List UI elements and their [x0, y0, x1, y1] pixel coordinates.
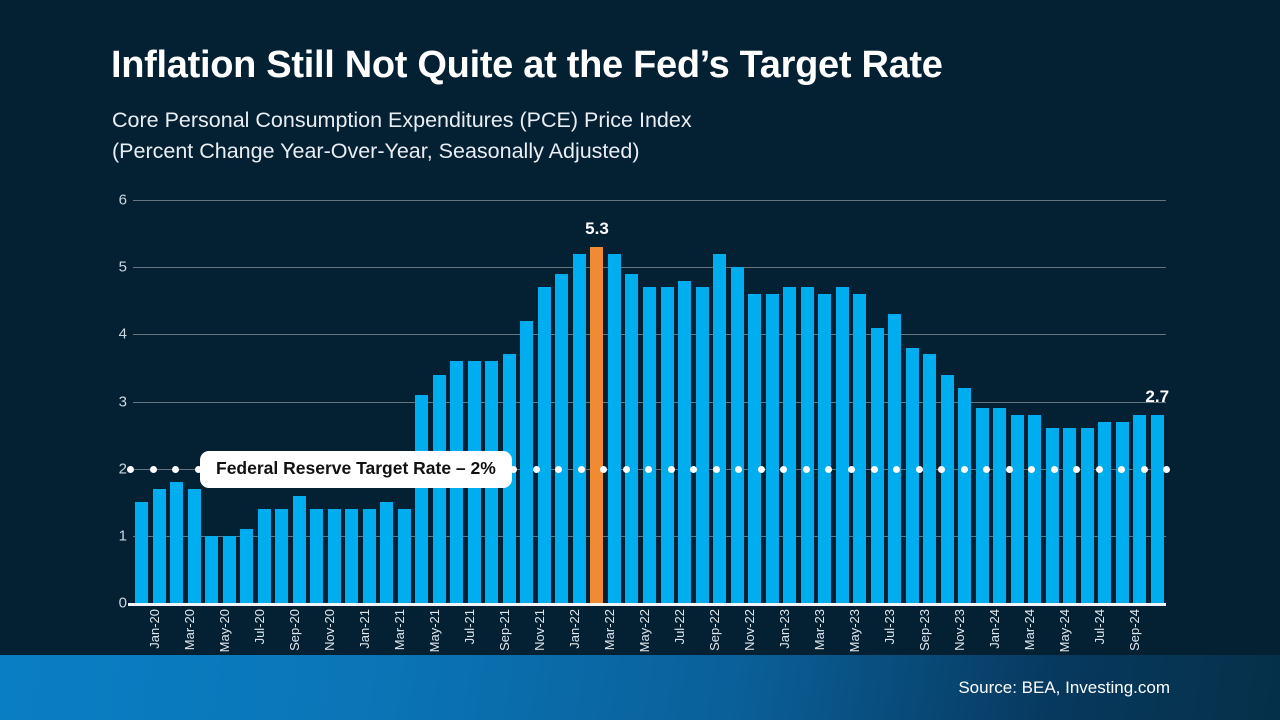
bar[interactable]: [625, 274, 638, 603]
x-axis-tick-label: May-23: [847, 609, 862, 652]
bar[interactable]: [520, 321, 533, 603]
x-axis-tick-label: May-21: [427, 609, 442, 652]
bar[interactable]: [363, 509, 376, 603]
x-axis-tick-label: May-22: [637, 609, 652, 652]
bar[interactable]: [731, 267, 744, 603]
x-axis-tick-label: Mar-21: [392, 609, 407, 650]
bar[interactable]: [643, 287, 656, 603]
bar[interactable]: [1081, 428, 1094, 603]
bar[interactable]: [345, 509, 358, 603]
bar[interactable]: [205, 536, 218, 603]
bar[interactable]: [135, 502, 148, 603]
y-axis-tick-label: 6: [87, 192, 127, 209]
x-axis-tick-label: Jul-20: [252, 609, 267, 644]
x-axis-tick-label: Sep-23: [917, 609, 932, 651]
bar[interactable]: [678, 281, 691, 603]
x-axis-tick-label: Sep-22: [707, 609, 722, 651]
bar[interactable]: [240, 529, 253, 603]
bar[interactable]: [573, 254, 586, 603]
y-axis-tick-label: 4: [87, 326, 127, 343]
bar[interactable]: [888, 314, 901, 603]
bar[interactable]: [923, 354, 936, 603]
bar[interactable]: [993, 408, 1006, 603]
page-title: Inflation Still Not Quite at the Fed’s T…: [111, 44, 943, 87]
bar[interactable]: [906, 348, 919, 603]
bar[interactable]: [170, 482, 183, 603]
bar[interactable]: [380, 502, 393, 603]
bar[interactable]: [783, 287, 796, 603]
x-axis-tick-label: Nov-20: [322, 609, 337, 651]
bar[interactable]: [976, 408, 989, 603]
bar[interactable]: [258, 509, 271, 603]
x-axis-tick-label: May-20: [217, 609, 232, 652]
x-axis-tick-label: May-24: [1057, 609, 1072, 652]
bar-value-label: 5.3: [585, 219, 609, 239]
bar[interactable]: [1028, 415, 1041, 603]
bar[interactable]: [941, 375, 954, 603]
y-axis-tick-label: 0: [87, 595, 127, 612]
x-axis-tick-label: Jul-23: [882, 609, 897, 644]
bar[interactable]: [958, 388, 971, 603]
bar[interactable]: [1063, 428, 1076, 603]
x-axis-tick-label: Mar-23: [812, 609, 827, 650]
bar[interactable]: [555, 274, 568, 603]
x-axis-tick-label: Jan-22: [567, 609, 582, 649]
x-axis-tick-label: Nov-22: [742, 609, 757, 651]
y-axis-tick-label: 5: [87, 259, 127, 276]
bar[interactable]: [661, 287, 674, 603]
bar[interactable]: [433, 375, 446, 603]
bar[interactable]: [836, 287, 849, 603]
source-credit: Source: BEA, Investing.com: [958, 678, 1170, 698]
x-axis-line: [128, 603, 1166, 606]
bar[interactable]: [1151, 415, 1164, 603]
bar[interactable]: [801, 287, 814, 603]
bar[interactable]: [1098, 422, 1111, 603]
x-axis-tick-label: Sep-21: [497, 609, 512, 651]
x-axis-tick-label: Nov-23: [952, 609, 967, 651]
bar[interactable]: [608, 254, 621, 603]
bar[interactable]: [1046, 428, 1059, 603]
x-axis-tick-label: Jul-22: [672, 609, 687, 644]
bar[interactable]: [188, 489, 201, 603]
y-axis-tick-label: 1: [87, 527, 127, 544]
x-axis-tick-label: Mar-24: [1022, 609, 1037, 650]
bar[interactable]: [871, 328, 884, 603]
gridline: [133, 200, 1166, 201]
bar[interactable]: [713, 254, 726, 603]
bar[interactable]: [328, 509, 341, 603]
bar[interactable]: [398, 509, 411, 603]
x-axis-tick-label: Mar-20: [182, 609, 197, 650]
bar[interactable]: [153, 489, 166, 603]
x-axis-tick-label: Jan-23: [777, 609, 792, 649]
target-rate-callout: Federal Reserve Target Rate – 2%: [200, 451, 512, 488]
bar[interactable]: [590, 247, 603, 603]
bar[interactable]: [766, 294, 779, 603]
bar[interactable]: [1133, 415, 1146, 603]
x-axis-tick-label: Jan-20: [147, 609, 162, 649]
x-axis-tick-label: Sep-20: [287, 609, 302, 651]
bar[interactable]: [538, 287, 551, 603]
footer-bar: Source: BEA, Investing.com: [0, 655, 1280, 720]
y-axis-tick-label: 2: [87, 460, 127, 477]
x-axis-tick-label: Jul-21: [462, 609, 477, 644]
bar[interactable]: [748, 294, 761, 603]
bar-value-label: 2.7: [1145, 387, 1169, 407]
bar[interactable]: [310, 509, 323, 603]
bar[interactable]: [223, 536, 236, 603]
bar[interactable]: [696, 287, 709, 603]
bar[interactable]: [293, 496, 306, 603]
x-axis-tick-label: Jul-24: [1092, 609, 1107, 644]
x-axis-tick-label: Jan-24: [987, 609, 1002, 649]
bar[interactable]: [275, 509, 288, 603]
y-axis-tick-label: 3: [87, 393, 127, 410]
bar[interactable]: [818, 294, 831, 603]
chart-subtitle: Core Personal Consumption Expenditures (…: [112, 105, 692, 167]
x-axis-tick-label: Sep-24: [1127, 609, 1142, 651]
x-axis-tick-label: Jan-21: [357, 609, 372, 649]
bar[interactable]: [1116, 422, 1129, 603]
bar[interactable]: [853, 294, 866, 603]
bar[interactable]: [1011, 415, 1024, 603]
gridline: [133, 267, 1166, 268]
x-axis-tick-label: Mar-22: [602, 609, 617, 650]
chart-slide: Inflation Still Not Quite at the Fed’s T…: [0, 0, 1280, 720]
x-axis-tick-label: Nov-21: [532, 609, 547, 651]
plot-area: 0123456Jan-20Mar-20May-20Jul-20Sep-20Nov…: [133, 200, 1166, 603]
bar[interactable]: [415, 395, 428, 603]
